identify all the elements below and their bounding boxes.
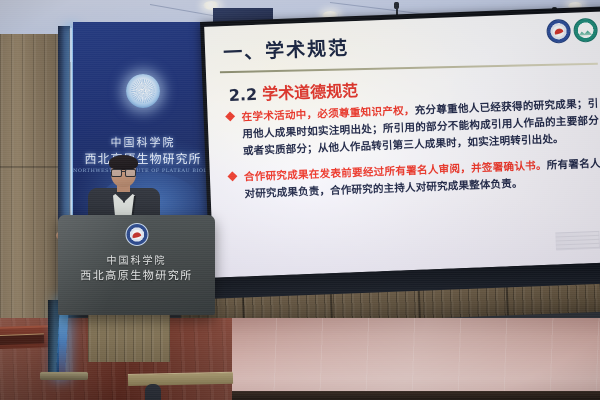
lectern: 中国科学院 西北高原生物研究所 <box>58 215 215 315</box>
slide-section-heading: 2.2学术道德规范 <box>228 77 358 106</box>
backdrop-institute-line1: 中国科学院 <box>73 134 213 150</box>
slide-title: 一、学术规范 <box>223 33 350 65</box>
presentation-photo: 中国科学院 西北高原生物研究所 NORTHWEST INSTITUTE OF P… <box>0 0 600 400</box>
speaker-right-arm <box>145 384 161 400</box>
projection-screen-frame: 一、学术规范 2.2学术道德规范 在学术活动中，必须尊重知识产权，充分尊重他人已… <box>200 6 600 299</box>
slide-bullet-list: 在学术活动中，必须尊重知识产权，充分尊重他人已经获得的研究成果；引用他人成果时如… <box>225 96 600 213</box>
glasses-icon <box>111 169 136 175</box>
left-wood-wall <box>0 34 58 324</box>
bullet-text: 在学术活动中，必须尊重知识产权，充分尊重他人已经获得的研究成果；引用他人成果时如… <box>241 96 600 161</box>
bullet-text: 合作研究成果在发表前要经过所有署名人审阅，并签署确认书。所有署名人对研究成果负责… <box>244 156 600 204</box>
cas-academy-logo-icon <box>125 223 148 246</box>
slide-logo-group <box>546 18 598 44</box>
section-heading-text: 学术道德规范 <box>262 81 359 104</box>
diamond-bullet-icon <box>225 111 235 121</box>
speaker-hair <box>109 155 138 170</box>
backdrop-institute-line2: 西北高原生物研究所 <box>73 150 213 167</box>
podium-institute-line1: 中国科学院 <box>58 252 215 267</box>
slide-watermark <box>555 231 600 251</box>
diamond-bullet-icon <box>228 171 238 181</box>
institute-green-logo-icon <box>573 18 598 43</box>
backdrop-institute-line3: NORTHWEST INSTITUTE OF PLATEAU BIOLOGY <box>73 168 213 174</box>
bullet-emphasis: 在学术活动中，必须尊重知识产权， <box>241 105 414 124</box>
list-item: 合作研究成果在发表前要经过所有署名人审阅，并签署确认书。所有署名人对研究成果负责… <box>228 156 600 204</box>
list-item: 在学术活动中，必须尊重知识产权，充分尊重他人已经获得的研究成果；引用他人成果时如… <box>225 96 600 161</box>
podium-institute-line2: 西北高原生物研究所 <box>58 267 215 283</box>
projected-slide: 一、学术规范 2.2学术道德规范 在学术活动中，必须尊重知识产权，充分尊重他人已… <box>204 11 600 277</box>
bullet-body: 充分尊重他人已经获得的研究成果；引用他人成果时如实注明出处；所引用的部分不能构成… <box>242 98 599 158</box>
cas-academy-logo-icon <box>546 19 571 44</box>
stage-front-trim <box>128 372 233 386</box>
cas-academy-logo-icon <box>126 74 160 108</box>
title-divider <box>220 63 598 74</box>
section-number: 2.2 <box>228 85 257 105</box>
podium-foot <box>40 372 88 380</box>
desk-recess <box>0 333 44 345</box>
